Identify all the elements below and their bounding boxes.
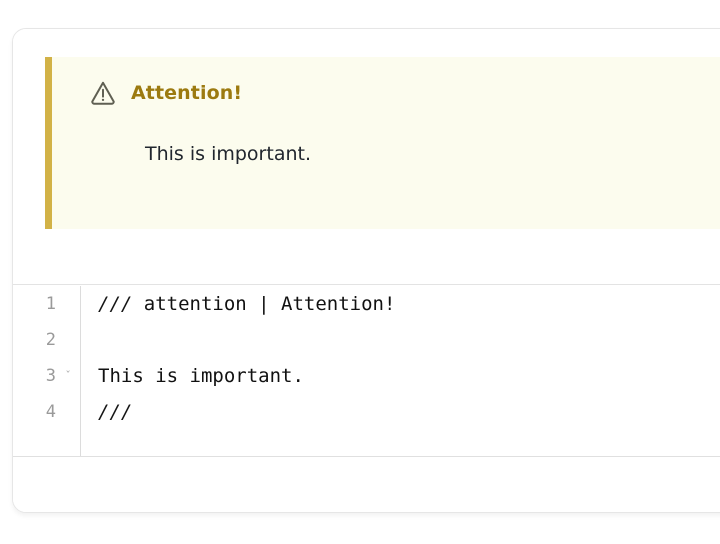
warning-triangle-icon xyxy=(89,79,117,107)
markdown-source-editor[interactable]: 1 2 3 ˇ 4 /// attention | Attention! Thi… xyxy=(13,286,720,457)
fold-chevron-icon[interactable] xyxy=(62,286,74,322)
line-number-row: 4 xyxy=(13,394,80,430)
code-token-text: attention | Attention! xyxy=(132,293,395,315)
admonition-title-row: Attention! xyxy=(89,78,242,108)
line-number-row: 1 xyxy=(13,286,80,322)
code-line[interactable]: /// xyxy=(98,394,720,430)
code-token-delimiter: /// xyxy=(98,293,132,315)
code-line[interactable]: /// attention | Attention! xyxy=(98,286,720,322)
editor-code-lines[interactable]: /// attention | Attention! This is impor… xyxy=(82,286,720,456)
attention-admonition: Attention! This is important. xyxy=(45,57,720,229)
admonition-title-text: Attention! xyxy=(131,82,242,104)
fold-chevron-icon[interactable]: ˇ xyxy=(62,358,74,394)
line-number-row: 2 xyxy=(13,322,80,358)
card-footer-spacer xyxy=(13,458,720,512)
markdown-admonition-preview-card: Attention! This is important. 1 2 3 ˇ 4 xyxy=(12,28,720,513)
fold-chevron-icon[interactable] xyxy=(62,322,74,358)
code-line[interactable] xyxy=(98,322,720,358)
line-number: 3 xyxy=(46,366,56,386)
code-token-delimiter: /// xyxy=(98,401,132,423)
rendered-preview-pane: Attention! This is important. xyxy=(13,29,720,285)
code-token-text: This is important. xyxy=(98,365,304,387)
code-line[interactable]: This is important. xyxy=(98,358,720,394)
line-number-row: 3 ˇ xyxy=(13,358,80,394)
fold-chevron-icon[interactable] xyxy=(62,394,74,430)
line-number: 2 xyxy=(46,330,56,350)
line-number: 1 xyxy=(46,294,56,314)
admonition-body-text: This is important. xyxy=(145,143,311,165)
editor-line-number-gutter: 1 2 3 ˇ 4 xyxy=(13,286,81,456)
line-number: 4 xyxy=(46,402,56,422)
